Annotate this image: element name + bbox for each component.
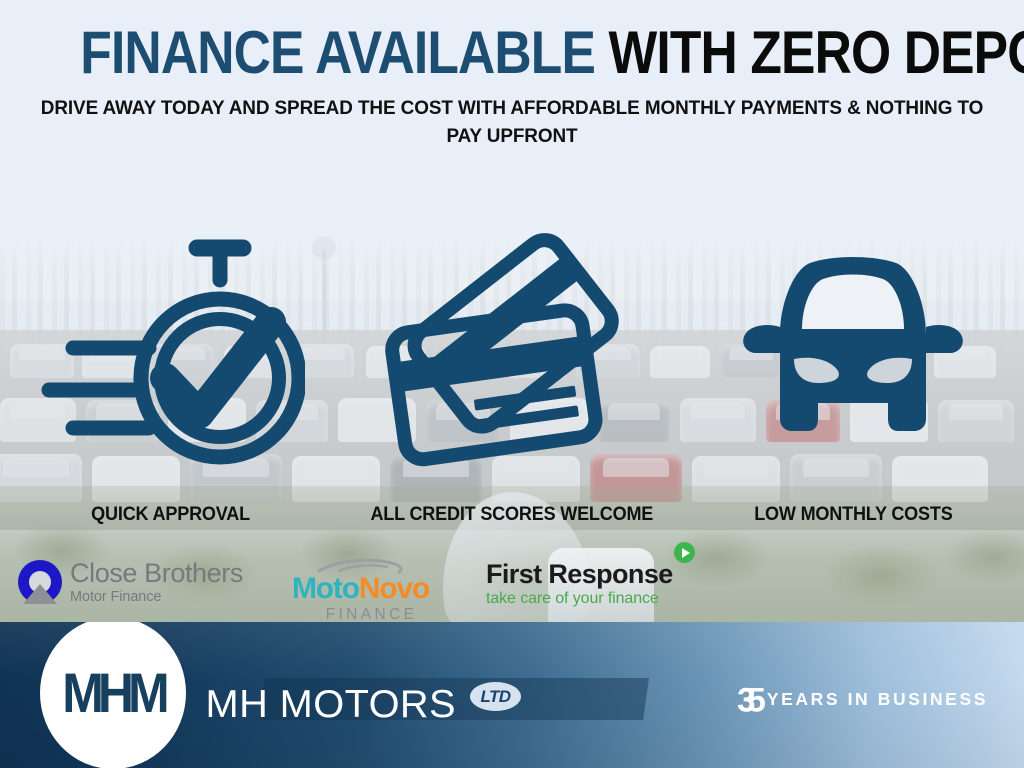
headline-part-two: WITH ZERO DEPOSIT: [608, 19, 1024, 86]
feature-all-credit-scores: ALL CREDIT SCORES WELCOME: [341, 196, 682, 526]
partner-name-part-a: Moto: [292, 572, 359, 605]
partner-name: MotoNovo: [292, 574, 429, 604]
partner-logo-first-response[interactable]: First Response take care of your finance: [486, 560, 673, 608]
finance-partner-logos: Close Brothers Motor Finance MotoNovo FI…: [0, 556, 1024, 622]
credit-cards-icon: [381, 222, 643, 490]
partner-logo-close-brothers[interactable]: Close Brothers Motor Finance: [18, 560, 243, 605]
headline-part-one: FINANCE AVAILABLE: [80, 19, 608, 86]
ltd-badge: LTD: [470, 682, 521, 711]
partner-name-part-b: Novo: [359, 572, 429, 605]
green-play-circle-icon: [674, 542, 695, 563]
feature-list: QUICK APPROVAL: [0, 196, 1024, 526]
feature-low-monthly-costs: LOW MONTHLY COSTS: [683, 196, 1024, 526]
partner-subtitle: Motor Finance: [70, 590, 243, 605]
years-number: 35: [737, 682, 758, 717]
partner-logo-motonovo[interactable]: MotoNovo FINANCE: [292, 558, 429, 624]
mhm-monogram: MHM: [62, 661, 163, 726]
page-subtitle: DRIVE AWAY TODAY AND SPREAD THE COST WIT…: [39, 94, 986, 150]
stopwatch-check-icon: [37, 222, 305, 490]
partner-name: First Response: [486, 560, 673, 588]
finance-promo-banner: FINANCE AVAILABLE WITH ZERO DEPOSIT DRIV…: [0, 0, 1024, 768]
years-in-business: 35 YEARS IN BUSINESS: [737, 683, 988, 716]
partner-subtitle: take care of your finance: [486, 590, 673, 608]
car-front-icon: [728, 222, 978, 490]
banner-header: FINANCE AVAILABLE WITH ZERO DEPOSIT DRIV…: [0, 0, 1024, 150]
ltd-badge-label: LTD: [481, 687, 511, 707]
mhm-logo[interactable]: MHM: [40, 622, 186, 768]
close-brothers-logo-icon: [18, 560, 62, 604]
partner-name: Close Brothers: [70, 560, 243, 587]
feature-label: ALL CREDIT SCORES WELCOME: [371, 504, 654, 526]
feature-label: QUICK APPROVAL: [91, 504, 250, 526]
feature-quick-approval: QUICK APPROVAL: [0, 196, 341, 526]
feature-label: LOW MONTHLY COSTS: [754, 504, 952, 526]
page-title: FINANCE AVAILABLE WITH ZERO DEPOSIT: [72, 0, 953, 84]
dealer-name: MH MOTORS: [206, 683, 456, 727]
years-label: YEARS IN BUSINESS: [767, 689, 988, 710]
